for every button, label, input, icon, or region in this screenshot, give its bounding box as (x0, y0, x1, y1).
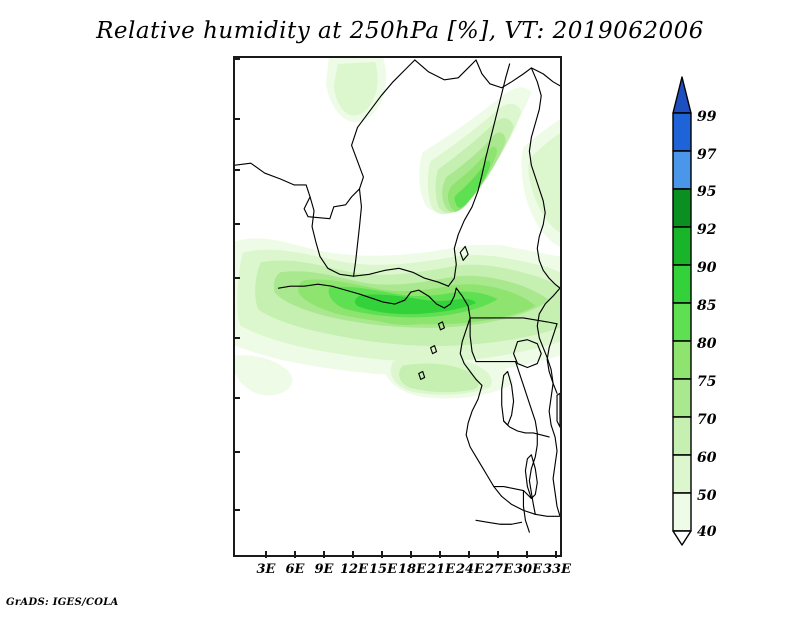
x-tick (526, 551, 528, 558)
colorbar-label-40: 40 (697, 524, 716, 540)
colorbar-cap-high (673, 77, 691, 113)
x-axis-label-24E: 24E (456, 562, 484, 577)
colorbar-label-75: 75 (697, 374, 716, 390)
x-tick (439, 551, 441, 558)
footer-credit: GrADS: IGES/COLA (6, 597, 119, 608)
y-tick (233, 58, 240, 60)
x-tick (410, 551, 412, 558)
y-tick (233, 509, 240, 511)
colorbar-label-97: 97 (697, 147, 716, 163)
colorbar-label-80: 80 (697, 336, 716, 352)
x-tick (497, 551, 499, 558)
map-canvas (235, 58, 560, 555)
x-tick (265, 551, 267, 558)
x-axis-label-15E: 15E (369, 562, 397, 577)
x-tick (555, 551, 557, 558)
x-axis-label-21E: 21E (427, 562, 455, 577)
y-tick (233, 397, 240, 399)
x-tick (468, 551, 470, 558)
map-plot-area (233, 56, 562, 557)
y-tick (233, 223, 240, 225)
y-tick (233, 451, 240, 453)
colorbar-label-50: 50 (697, 488, 716, 504)
x-tick (352, 551, 354, 558)
colorbar-label-60: 60 (697, 450, 716, 466)
x-axis-label-30E: 30E (514, 562, 542, 577)
x-axis-label-27E: 27E (485, 562, 513, 577)
x-tick (323, 551, 325, 558)
x-tick (381, 551, 383, 558)
x-axis-label-33E: 33E (543, 562, 571, 577)
y-tick (233, 277, 240, 279)
colorbar-label-99: 99 (697, 109, 716, 125)
colorbar-label-85: 85 (697, 298, 716, 314)
x-axis-label-3E: 3E (257, 562, 276, 577)
colorbar-label-95: 95 (697, 184, 716, 200)
y-tick (233, 337, 240, 339)
y-tick (233, 118, 240, 120)
colorbar-swatches (671, 75, 693, 547)
x-axis-label-9E: 9E (315, 562, 334, 577)
colorbar-cap-low (673, 531, 691, 545)
x-axis-label-18E: 18E (398, 562, 426, 577)
x-tick (294, 551, 296, 558)
humidity-shading-layer (235, 58, 560, 398)
colorbar-label-92: 92 (697, 222, 716, 238)
x-axis-label-12E: 12E (340, 562, 368, 577)
colorbar (671, 75, 693, 547)
colorbar-label-70: 70 (697, 412, 716, 428)
x-axis-label-6E: 6E (286, 562, 305, 577)
colorbar-label-90: 90 (697, 260, 716, 276)
y-tick (233, 169, 240, 171)
page-title: Relative humidity at 250hPa [%], VT: 201… (0, 18, 800, 44)
